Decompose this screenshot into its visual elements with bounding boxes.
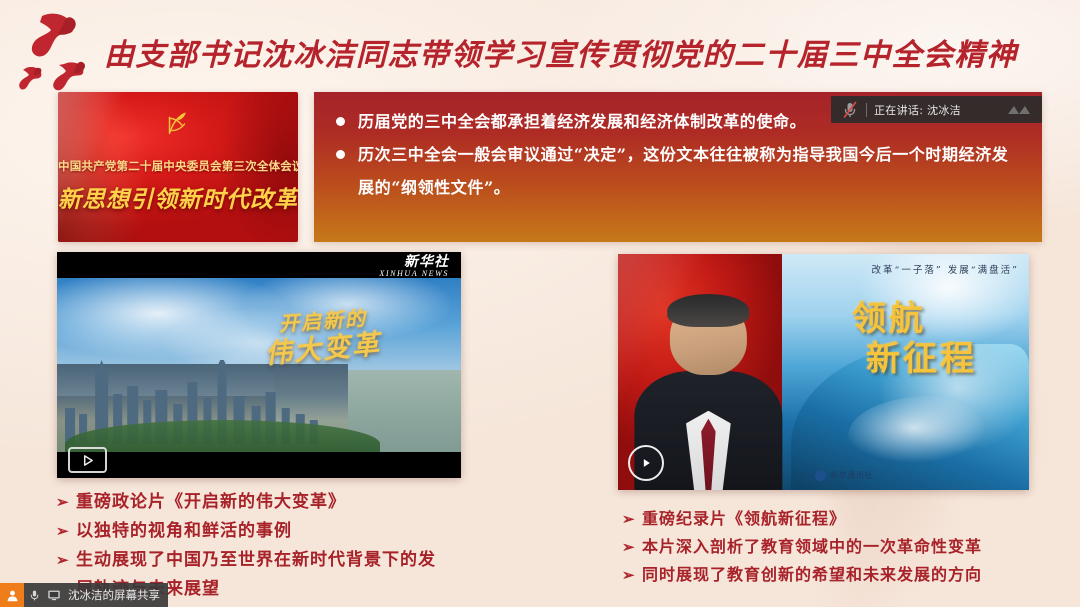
list-item: ➢ 本片深入剖析了教育领域中的一次革命性变革 (622, 533, 1080, 561)
list-item: ➢ 生动展现了中国乃至世界在新时代背景下的发 (56, 546, 576, 575)
list-item: ➢ 重磅纪录片《领航新征程》 (622, 505, 1080, 533)
panel-bullet-2-text: 历次三中全会一般会审议通过“决定”，这份文本往往被称为指导我国今后一个时期经济发… (358, 138, 1020, 204)
list-item-text: 重磅政论片《开启新的伟大变革》 (76, 488, 576, 517)
poster-headline: 新思想引领新时代改革开放 (58, 180, 298, 214)
screen-share-status-bar[interactable]: 沈冰洁的屏幕共享 (0, 583, 168, 607)
xinhua-watermark-en: XINHUA NEWS (379, 270, 449, 278)
list-item-text: 同时展现了教育创新的希望和未来发展的方向 (642, 561, 1080, 589)
speaking-label: 正在讲话: 沈冰洁 (874, 102, 961, 118)
arrow-bullet-icon: ➢ (56, 517, 76, 546)
overlay-divider (866, 103, 867, 117)
list-item-text: 生动展现了中国乃至世界在新时代背景下的发 (76, 546, 576, 575)
arrow-bullet-icon: ➢ (622, 561, 642, 589)
conference-poster: 中国共产党第二十届中央委员会第三次全体会议 新思想引领新时代改革开放 (58, 92, 298, 242)
dove-icon (12, 4, 118, 92)
user-avatar-icon (0, 583, 24, 607)
video-right-tagline: 改革“一子落” 发展“满盘活” (872, 262, 1019, 276)
arrow-bullet-icon: ➢ (622, 505, 642, 533)
video-right-title-line2: 新征程 (866, 342, 977, 378)
video-right-credit-label: 新华通讯社 (830, 470, 873, 481)
microphone-icon[interactable] (24, 583, 44, 607)
video-left-title: 开启新的 伟大变革 (223, 310, 423, 366)
video-thumbnail-right[interactable]: 改革“一子落” 发展“满盘活” 领航 新征程 新华通讯社 (618, 254, 1029, 490)
list-item: ➢ 同时展现了教育创新的希望和未来发展的方向 (622, 561, 1080, 589)
video-right-credit: 新华通讯社 (815, 470, 873, 481)
arrow-bullet-icon: ➢ (56, 488, 76, 517)
video-right-title-line1: 领航 (852, 302, 977, 338)
play-button-icon[interactable] (628, 445, 664, 481)
screen-share-icon[interactable] (44, 583, 64, 607)
portrait-hair (668, 294, 750, 328)
arrow-bullet-icon: ➢ (56, 546, 76, 575)
presentation-screen-share: 由支部书记沈冰洁同志带领学习宣传贯彻党的二十届三中全会精神 中国共产党第二十届中… (0, 0, 1080, 607)
party-emblem-icon (58, 108, 298, 146)
list-item-text: 以独特的视角和鲜活的事例 (76, 517, 576, 546)
bullet-dot-icon (336, 150, 345, 159)
list-item: ➢ 重磅政论片《开启新的伟大变革》 (56, 488, 576, 517)
panel-bullet-2: 历次三中全会一般会审议通过“决定”，这份文本往往被称为指导我国今后一个时期经济发… (336, 138, 1020, 204)
double-chevron-icon[interactable] (1006, 103, 1036, 117)
xinhua-badge-icon (815, 470, 826, 481)
play-button-icon[interactable] (68, 447, 107, 473)
list-item-text: 重磅纪录片《领航新征程》 (642, 505, 1080, 533)
video-right-title: 领航 新征程 (852, 302, 977, 377)
arrow-bullet-icon: ➢ (622, 533, 642, 561)
screen-share-label: 沈冰洁的屏幕共享 (68, 587, 160, 603)
video-thumbnail-left[interactable]: 新华社 XINHUA NEWS 开启新的 伟大变革 (57, 252, 461, 478)
xinhua-watermark: 新华社 XINHUA NEWS (379, 255, 449, 278)
slide-title: 由支部书记沈冰洁同志带领学习宣传贯彻党的二十届三中全会精神 (104, 26, 1054, 78)
bullet-list-right: ➢ 重磅纪录片《领航新征程》 ➢ 本片深入剖析了教育领域中的一次革命性变革 ➢ … (622, 505, 1080, 589)
poster-subtitle: 中国共产党第二十届中央委员会第三次全体会议 (58, 158, 298, 174)
video-right-wave-foam (848, 396, 1012, 476)
bullet-dot-icon (336, 117, 345, 126)
list-item: ➢ 以独特的视角和鲜活的事例 (56, 517, 576, 546)
microphone-muted-icon (840, 100, 860, 120)
speaking-indicator-overlay[interactable]: 正在讲话: 沈冰洁 (831, 96, 1042, 123)
list-item-text: 本片深入剖析了教育领域中的一次革命性变革 (642, 533, 1080, 561)
video-left-letterbox-bottom (57, 452, 461, 478)
xinhua-watermark-cn: 新华社 (379, 255, 449, 270)
